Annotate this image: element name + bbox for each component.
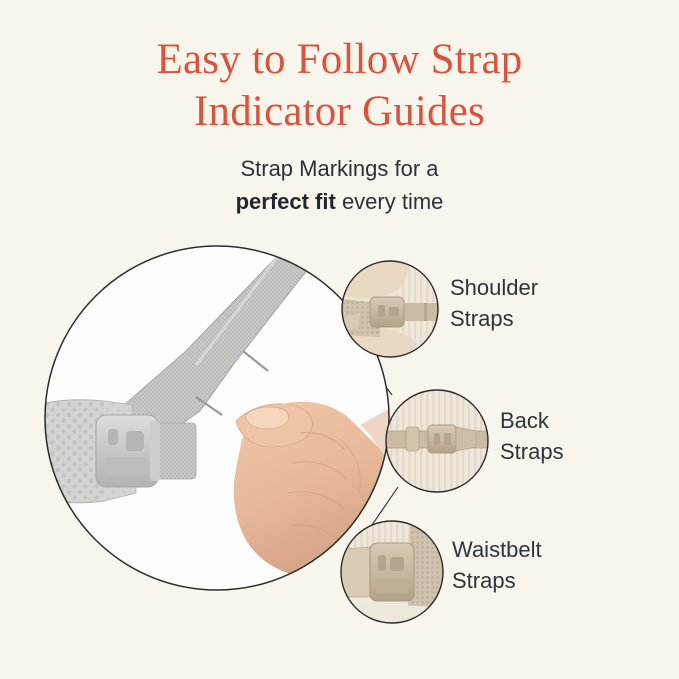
- callout-back-circle: [386, 390, 488, 492]
- strap-guide-illustration: [0, 225, 679, 655]
- subtitle-emphasis: perfect fit: [236, 189, 336, 214]
- poster-root: Easy to Follow Strap Indicator Guides St…: [0, 0, 679, 679]
- callout-label-back: Back Straps: [500, 405, 564, 467]
- callout-waistbelt-circle: [341, 521, 443, 623]
- subtitle-line-1: Strap Markings for a: [240, 156, 438, 181]
- page-title: Easy to Follow Strap Indicator Guides: [0, 34, 679, 138]
- callout-label-waistbelt: Waistbelt Straps: [452, 534, 542, 596]
- subtitle-tail: every time: [336, 189, 444, 214]
- page-subtitle: Strap Markings for a perfect fit every t…: [0, 152, 679, 218]
- callout-label-shoulder: Shoulder Straps: [450, 272, 538, 334]
- callout-shoulder-circle: [342, 261, 442, 357]
- main-photo-circle: [6, 241, 396, 593]
- side-release-buckle: [96, 415, 196, 487]
